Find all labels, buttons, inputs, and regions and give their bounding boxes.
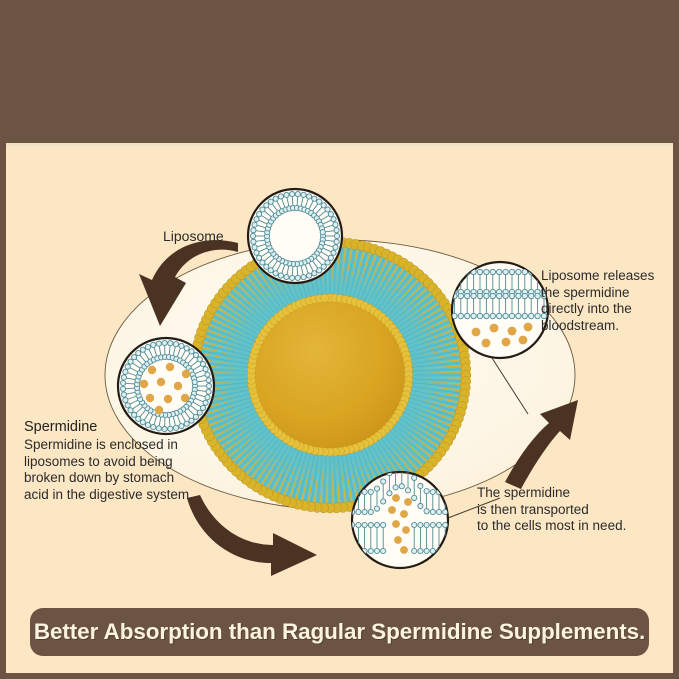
bubble-intact-liposome xyxy=(248,189,342,283)
callout-spermidine-body: Spermidine is enclosed in liposomes to a… xyxy=(24,437,239,503)
bottom-claim-banner: Better Absorption than Ragular Spermidin… xyxy=(30,608,649,656)
callout-spermidine-transport: The spermidine is then transported to th… xyxy=(477,485,672,535)
bottom-claim-text: Better Absorption than Ragular Spermidin… xyxy=(34,619,645,645)
header-band xyxy=(0,0,679,143)
bubble-spermidine-loaded-liposome xyxy=(118,338,214,434)
frame-edge-bottom xyxy=(0,673,679,679)
callout-liposome-release: Liposome releases the spermidine directl… xyxy=(541,268,676,334)
label-liposome: Liposome xyxy=(163,228,224,244)
callout-spermidine-title: Spermidine xyxy=(24,419,97,435)
frame-edge-right xyxy=(673,143,679,679)
header-underline-divider xyxy=(0,143,679,146)
infographic-poster: ENHANCED ABSORPTION UP TO 98% Advanced L… xyxy=(0,0,679,679)
frame-edge-left xyxy=(0,143,6,679)
